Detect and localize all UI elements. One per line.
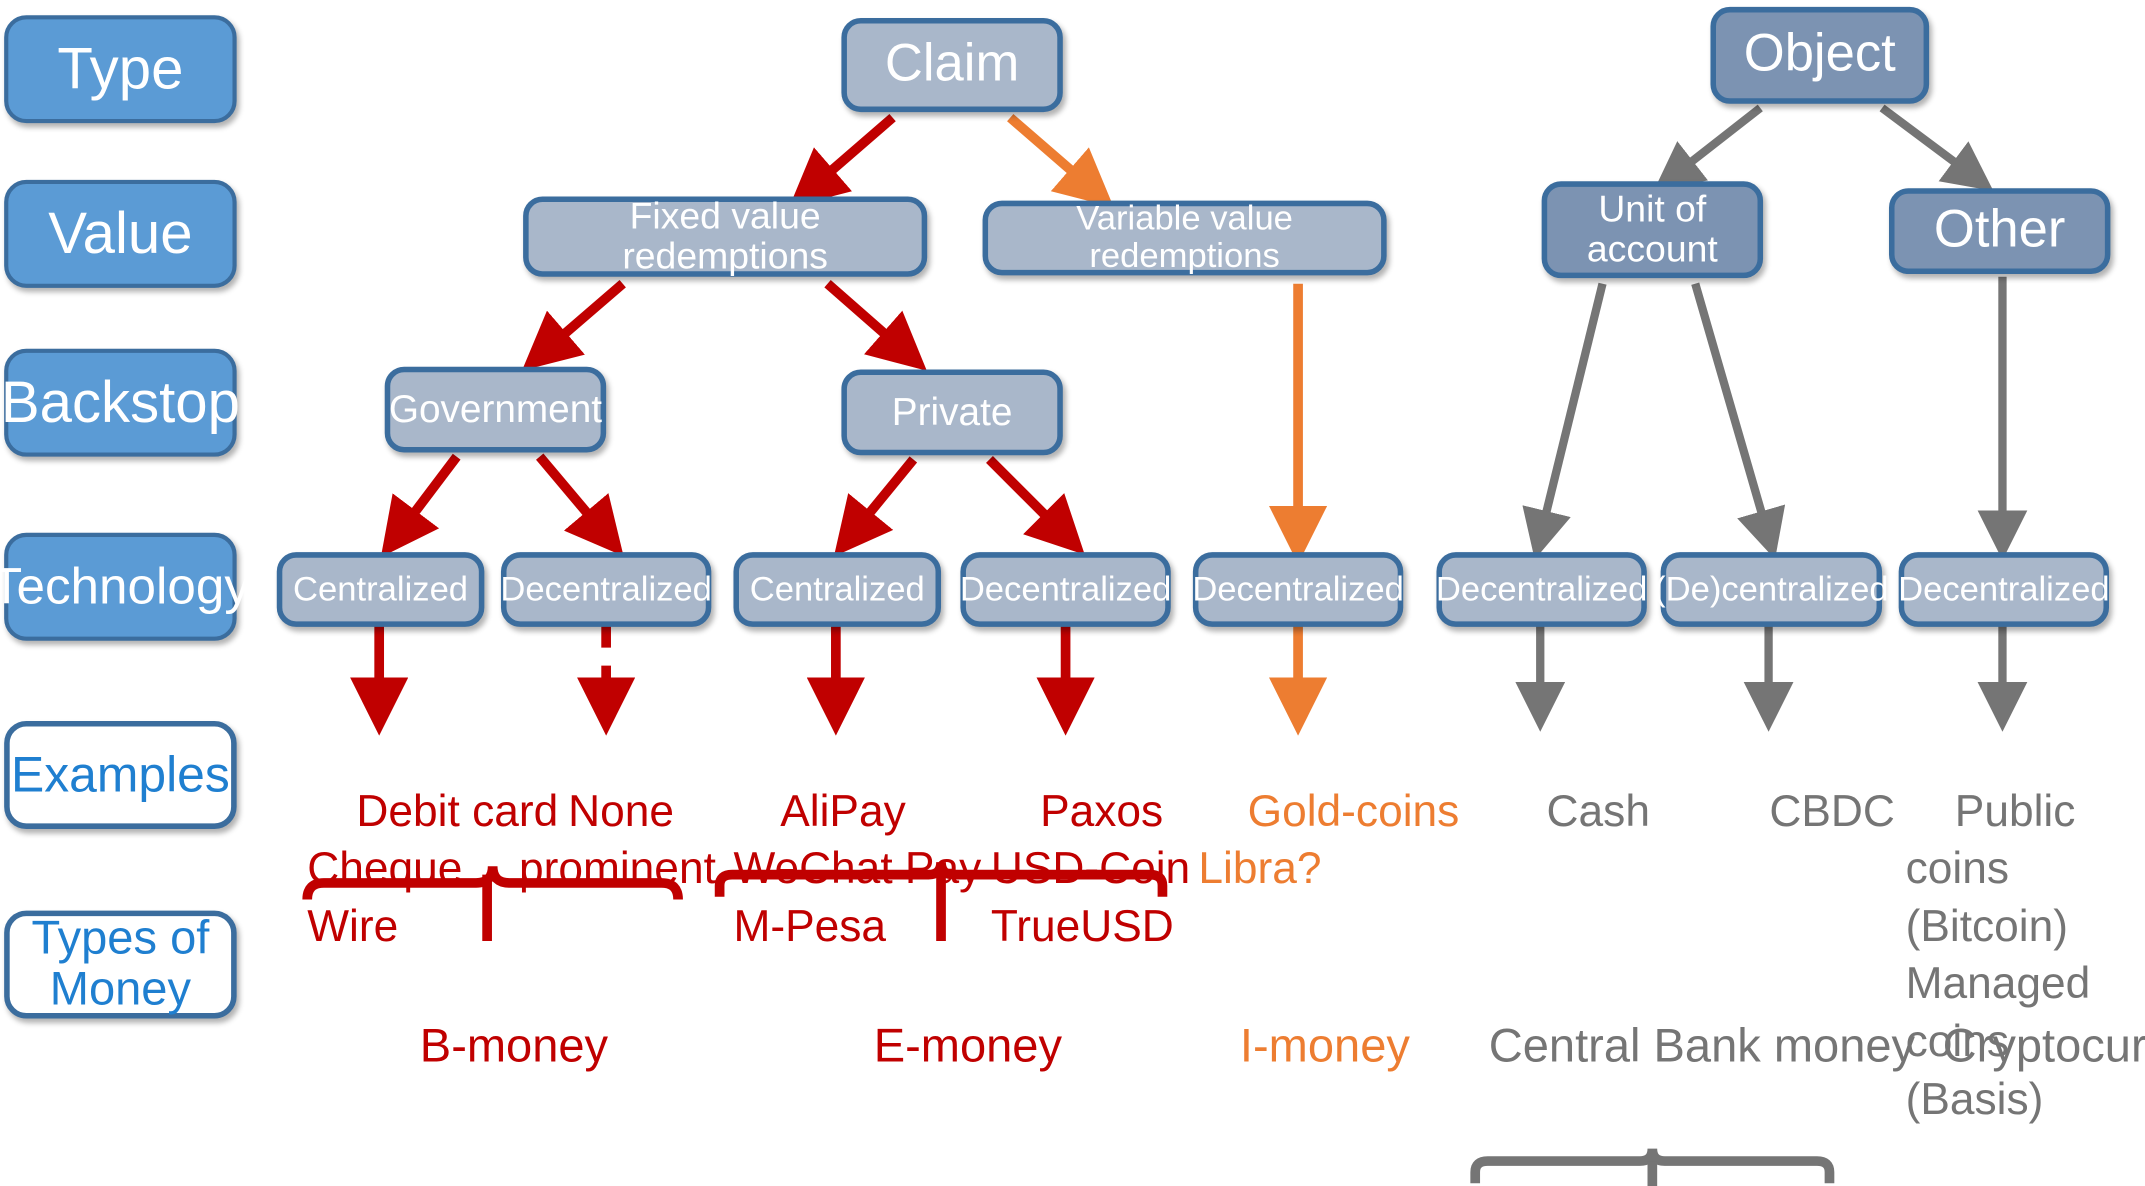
node-label: Decentralized [960,571,1172,608]
node-government[interactable]: Government [385,367,606,453]
node-tech-5-decentralized[interactable]: Decentralized [1193,552,1403,627]
example-lines: AliPay WeChat Pay M-Pesa [733,785,981,950]
rail-label: Types of Money [31,914,209,1016]
money-taxonomy-diagram: Type Value Backstop Technology Examples … [0,0,2145,1032]
rail-item-technology: Technology [4,533,236,641]
node-label: Fixed value redemptions [529,196,922,277]
node-claim[interactable]: Claim [841,18,1062,112]
rail-label: Value [48,202,192,265]
node-label: Private [892,391,1013,433]
node-label: Decentralized [1436,571,1648,608]
rail-label: Type [57,38,183,101]
node-label: Centralized [750,571,925,608]
node-variable-value-redemptions[interactable]: Variable value redemptions [983,201,1387,276]
example-lines: None prominent [519,785,716,892]
example-group-none-prominent: None prominent [519,725,716,955]
money-type-e-money: E-money [800,955,1084,1138]
node-label: Object [1744,27,1896,84]
money-type-label: E-money [874,1020,1062,1073]
node-tech-4-decentralized[interactable]: Decentralized [960,552,1170,627]
node-label: Unit of account [1587,189,1718,270]
rail-item-value: Value [4,180,236,288]
node-tech-7-de-centralized[interactable]: (De)centralized [1661,552,1882,627]
example-lines: Paxos USD-Coin TrueUSD [991,785,1190,950]
rail-item-backstop: Backstop [4,349,236,457]
node-label: Government [389,389,602,431]
node-label: Variable value redemptions [988,201,1381,276]
node-unit-of-account[interactable]: Unit of account [1542,181,1763,278]
node-label: Decentralized [500,571,712,608]
money-type-label: B-money [420,1020,608,1073]
example-lines: Gold-coins Libra? [1198,785,1459,892]
node-label: (De)centralized [1654,571,1889,608]
node-object[interactable]: Object [1710,7,1929,104]
node-label: Centralized [293,571,468,608]
example-arrows-red [379,626,1065,709]
money-type-b-money: B-money [346,955,630,1138]
money-type-label: Central Bank money [1489,1020,1915,1073]
example-group-cash: Cash [1497,725,1650,898]
node-private[interactable]: Private [841,369,1062,455]
rail-label: Backstop [1,371,240,434]
rail-label: Examples [11,748,230,802]
node-tech-3-centralized[interactable]: Centralized [733,552,941,627]
example-group-gold-coins: Gold-coins Libra? [1198,725,1459,955]
node-tech-1-centralized[interactable]: Centralized [277,552,485,627]
node-label: Decentralized [1192,571,1404,608]
node-label: Decentralized [1898,571,2110,608]
node-fixed-value-redemptions[interactable]: Fixed value redemptions [523,197,927,277]
money-type-label: I-money [1240,1020,1410,1073]
node-other[interactable]: Other [1889,188,2110,274]
money-type-label: Cryptocurrency [1943,1020,2145,1073]
claim-branch-arrows [397,118,1065,536]
node-label: Other [1934,203,2066,260]
money-type-cryptocurrency: Cryptocurrency [1890,955,2145,1138]
example-lines: Cash [1547,785,1650,835]
example-group-cbdc: CBDC [1720,725,1895,898]
node-tech-2-decentralized[interactable]: Decentralized [501,552,711,627]
rail-item-type: Type [4,15,236,123]
rail-label: Technology [0,559,250,614]
example-lines: CBDC [1769,785,1894,835]
node-tech-6-decentralized[interactable]: Decentralized [1436,552,1646,627]
money-type-i-money: I-money [1157,955,1441,1138]
node-tech-8-decentralized[interactable]: Decentralized [1899,552,2109,627]
rail-item-examples: Examples [4,721,236,829]
rail-item-types-of-money: Types of Money [4,911,236,1019]
money-type-central-bank-money: Central Bank money [1436,955,1868,1138]
node-label: Claim [885,37,1019,94]
